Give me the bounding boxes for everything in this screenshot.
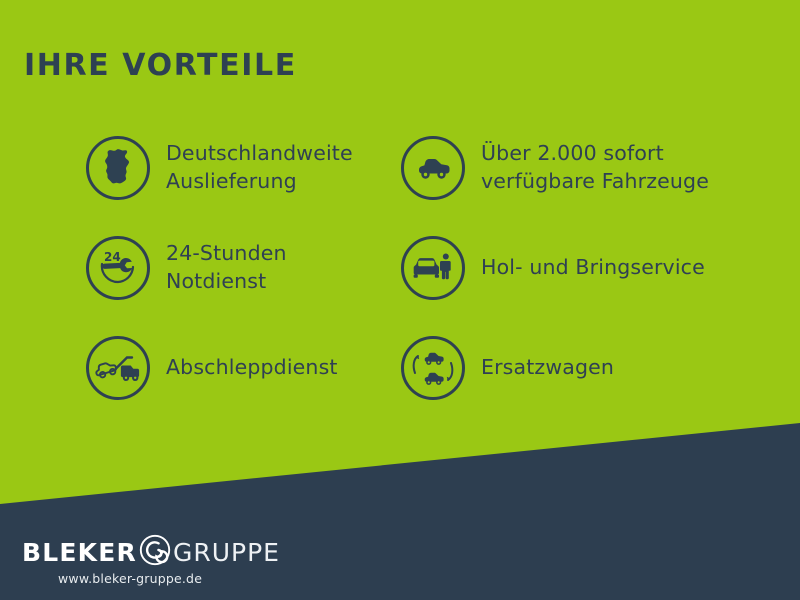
slide-canvas: IHRE VORTEILE DeutschlandweiteAuslieferu… — [0, 0, 800, 600]
benefit-item-ersatzwagen: Ersatzwagen — [401, 318, 716, 418]
germany-map-icon — [86, 136, 150, 200]
benefit-item-hol-und-bringservice: Hol- und Bringservice — [401, 218, 716, 318]
benefit-label: 24-StundenNotdienst — [166, 240, 287, 295]
car-side-icon — [401, 136, 465, 200]
benefit-item-abschleppdienst: Abschleppdienst — [86, 318, 401, 418]
spiral-logo-icon — [138, 533, 172, 571]
benefit-item-24-stunden-notdienst: 24 24-StundenNotdienst — [86, 218, 401, 318]
car-person-icon — [401, 236, 465, 300]
benefit-item-verfuegbare-fahrzeuge: Über 2.000 sofortverfügbare Fahrzeuge — [401, 118, 716, 218]
benefit-label: Abschleppdienst — [166, 354, 338, 382]
benefits-grid: DeutschlandweiteAuslieferung Über 2.000 … — [86, 118, 766, 418]
logo-primary-text: BLEKER — [22, 540, 137, 565]
benefit-label: Hol- und Bringservice — [481, 254, 705, 282]
benefit-label: DeutschlandweiteAuslieferung — [166, 140, 353, 195]
benefit-label: Ersatzwagen — [481, 354, 614, 382]
logo-secondary-text: GRUPPE — [173, 540, 280, 565]
footer-logo: BLEKER GRUPPE www.bleker-gruppe.de — [22, 536, 280, 586]
tow-truck-icon — [86, 336, 150, 400]
wrench-24h-icon: 24 — [86, 236, 150, 300]
benefit-label: Über 2.000 sofortverfügbare Fahrzeuge — [481, 140, 709, 195]
two-cars-swap-icon — [401, 336, 465, 400]
logo-wordmark-row: BLEKER GRUPPE — [22, 536, 280, 568]
benefit-item-deutschlandweite-auslieferung: DeutschlandweiteAuslieferung — [86, 118, 401, 218]
page-title: IHRE VORTEILE — [24, 48, 297, 83]
logo-url-text: www.bleker-gruppe.de — [58, 571, 280, 586]
badge-24-text: 24 — [104, 250, 121, 264]
